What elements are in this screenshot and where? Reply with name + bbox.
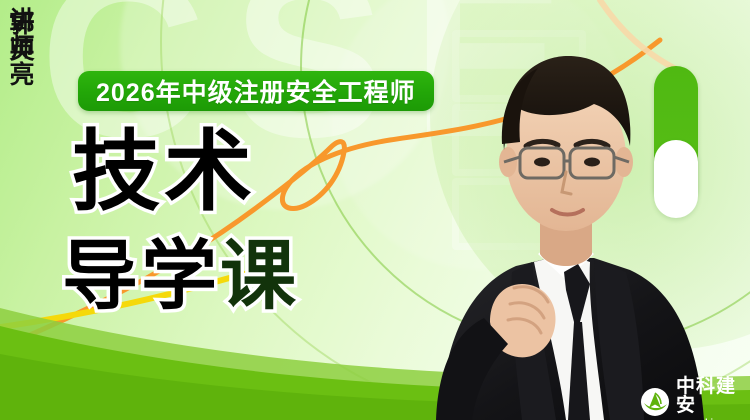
instructor-role-pill	[654, 140, 698, 218]
brand-name: 中科建安	[676, 377, 750, 415]
instructor-role-char-2: 师	[0, 35, 44, 62]
instructor-role-char-1: 讲	[0, 8, 44, 35]
instructor-role: 讲 师	[0, 8, 44, 61]
course-poster: CSE	[0, 0, 750, 420]
page-subtitle-part-2: 课	[220, 234, 299, 319]
page-title: 技术	[72, 130, 256, 214]
course-badge: 2026年中级注册安全工程师	[78, 71, 434, 111]
zkjan-circle-logo-icon	[640, 387, 670, 417]
brand-text: 中科建安 www.zkjan.com	[676, 377, 750, 420]
page-subtitle: 导学课	[62, 240, 299, 314]
page-subtitle-part-1: 导学	[62, 234, 220, 319]
instructor-name-char-3: 亮	[0, 63, 44, 89]
brand-logo: 中科建安 www.zkjan.com	[640, 377, 750, 420]
